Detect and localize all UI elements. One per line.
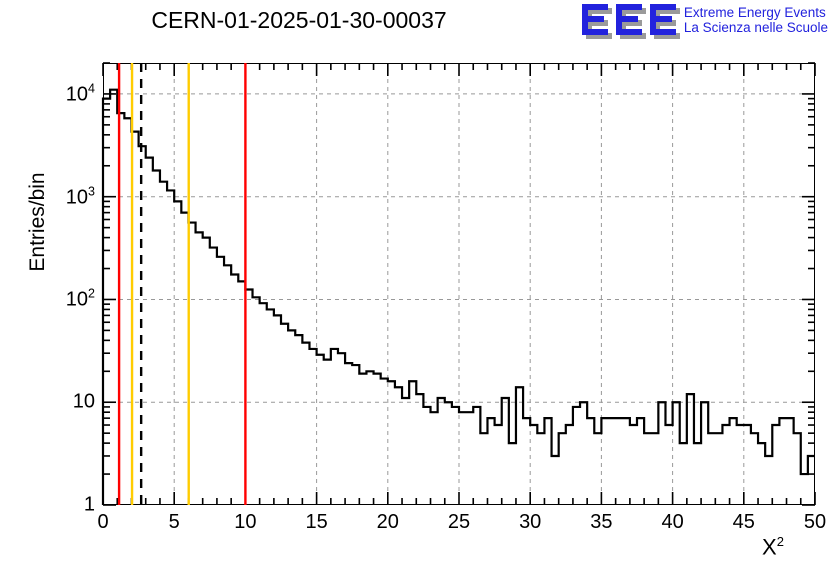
y-axis-label: Entries/bin (26, 132, 50, 312)
x-tick-label-50: 50 (804, 511, 826, 534)
y-tick-mantissa: 10 (73, 391, 95, 413)
eee-logo-mark (582, 4, 678, 40)
x-axis-label-text: X (762, 534, 777, 559)
y-tick-label-1e4: 104 (66, 82, 95, 107)
eee-logo-text: Extreme Energy Events La Scienza nelle S… (684, 2, 828, 35)
eee-letter-1 (582, 4, 608, 35)
y-tick-label-1e2: 102 (66, 287, 95, 312)
y-tick-exponent: 2 (88, 287, 95, 301)
x-axis-label-exponent: 2 (777, 534, 784, 549)
page-title: CERN-01-2025-01-30-00037 (84, 7, 514, 34)
x-tick-label-10: 10 (234, 511, 256, 534)
y-tick-label-1e0: 1 (84, 494, 95, 517)
y-tick-exponent: 3 (88, 184, 95, 198)
eee-logo-line1: Extreme Energy Events (684, 5, 828, 20)
x-tick-label-40: 40 (661, 511, 683, 534)
x-tick-label-30: 30 (519, 511, 541, 534)
y-tick-mantissa: 10 (66, 83, 88, 105)
x-tick-label-0: 0 (97, 511, 108, 534)
eee-logo: Extreme Energy Events La Scienza nelle S… (582, 2, 828, 42)
x-tick-label-15: 15 (305, 511, 327, 534)
y-tick-mantissa: 1 (84, 494, 95, 516)
y-tick-mantissa: 10 (66, 289, 88, 311)
x-tick-label-5: 5 (169, 511, 180, 534)
y-tick-label-1e3: 103 (66, 184, 95, 209)
y-tick-exponent: 4 (88, 82, 95, 96)
x-tick-label-20: 20 (377, 511, 399, 534)
eee-letter-2 (616, 4, 642, 35)
plot-canvas: CERN-01-2025-01-30-00037 Extreme Energy … (0, 0, 836, 572)
plot-area: 05101520253035404550 110102103104 (103, 63, 815, 505)
y-tick-label-1e1: 10 (73, 391, 95, 414)
y-tick-mantissa: 10 (66, 186, 88, 208)
eee-logo-line2: La Scienza nelle Scuole (684, 20, 828, 35)
x-tick-label-45: 45 (733, 511, 755, 534)
eee-letter-3 (650, 4, 676, 35)
x-axis-label: X2 (762, 534, 784, 560)
cut-marker-lines (103, 63, 815, 505)
x-tick-label-25: 25 (448, 511, 470, 534)
x-tick-label-35: 35 (590, 511, 612, 534)
